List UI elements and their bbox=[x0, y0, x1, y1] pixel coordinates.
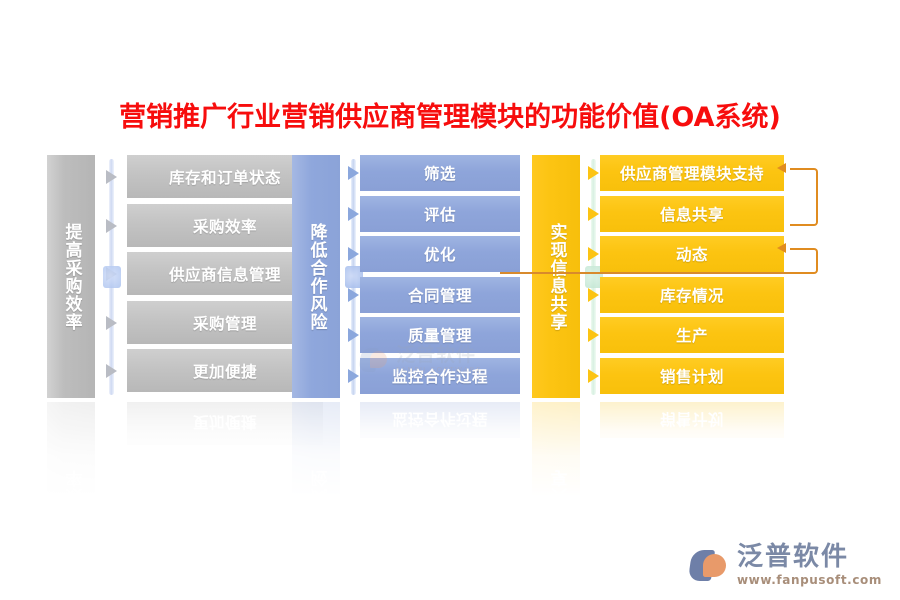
box-item-label: 销售计划 bbox=[660, 365, 724, 387]
box-item-label: 生产 bbox=[676, 324, 708, 346]
connector-arrow-icon bbox=[348, 288, 359, 302]
column-label-text: 提高采购效率 bbox=[61, 223, 80, 331]
box-stack-reflection: 销售计划 bbox=[600, 402, 784, 462]
box-item[interactable]: 生产 bbox=[600, 317, 784, 353]
fanpu-logo[interactable]: 泛普软件 www.fanpusoft.com bbox=[690, 544, 882, 586]
fanpu-logo-icon bbox=[690, 546, 730, 584]
box-item-label: 库存情况 bbox=[660, 284, 724, 306]
connector-arrow-icon bbox=[348, 166, 359, 180]
box-item-label: 采购效率 bbox=[193, 215, 257, 237]
column-label-bar-improve-procurement-efficiency[interactable]: 提高采购效率 bbox=[47, 155, 95, 398]
box-item[interactable]: 优化 bbox=[360, 236, 520, 272]
column-label-text: 降低合作风险 bbox=[306, 223, 325, 331]
feedback-arrow-upper bbox=[777, 163, 786, 173]
box-item[interactable]: 库存情况 bbox=[600, 277, 784, 313]
connector-knob bbox=[103, 266, 121, 288]
box-item-label: 优化 bbox=[424, 243, 456, 265]
logo-company-name: 泛普软件 bbox=[737, 544, 882, 570]
box-item-label: 库存和订单状态 bbox=[169, 166, 281, 188]
box-item-label: 评估 bbox=[424, 203, 456, 225]
feedback-elbow-lower bbox=[790, 248, 818, 274]
box-stack-reflection: 监控合作过程 bbox=[360, 402, 520, 462]
box-item[interactable]: 合同管理 bbox=[360, 277, 520, 313]
box-item-label: 信息共享 bbox=[660, 203, 724, 225]
slide-canvas: 营销推广行业营销供应商管理模块的功能价值(OA系统) 提高采购效率 提高采购效率… bbox=[0, 0, 900, 600]
box-item[interactable]: 供应商管理模块支持 bbox=[600, 155, 784, 191]
connector-arrow-icon bbox=[588, 328, 599, 342]
column-label-bar-achieve-information-sharing[interactable]: 实现信息共享 bbox=[532, 155, 580, 398]
box-item-label: 更加便捷 bbox=[193, 360, 257, 382]
column-label-reflection: 降低合作风险 bbox=[292, 402, 340, 522]
connector-arrow-icon bbox=[348, 328, 359, 342]
connector-arrow-icon bbox=[588, 207, 599, 221]
connector-arrow-icon bbox=[588, 247, 599, 261]
box-item[interactable]: 信息共享 bbox=[600, 196, 784, 232]
watermark-en: FANPU SOFTWARE bbox=[396, 367, 482, 374]
connector-arrow-icon bbox=[106, 316, 117, 330]
connector-arrow-icon bbox=[348, 369, 359, 383]
box-item[interactable]: 销售计划 bbox=[600, 358, 784, 394]
box-item-label: 采购管理 bbox=[193, 312, 257, 334]
connector-arrow-icon bbox=[106, 170, 117, 184]
box-item[interactable]: 动态 bbox=[600, 236, 784, 272]
column-label-text: 实现信息共享 bbox=[546, 223, 565, 331]
column-label-reflection: 提高采购效率 bbox=[47, 402, 95, 522]
connector-arrow-icon bbox=[588, 369, 599, 383]
fanpu-logo-icon bbox=[360, 345, 390, 375]
connector-arrow-icon bbox=[106, 219, 117, 233]
cross-link-horizontal-line bbox=[500, 272, 800, 274]
box-item[interactable]: 评估 bbox=[360, 196, 520, 232]
logo-url: www.fanpusoft.com bbox=[737, 574, 882, 586]
center-watermark: 泛普软件 FANPU SOFTWARE bbox=[360, 345, 482, 375]
box-item[interactable]: 筛选 bbox=[360, 155, 520, 191]
box-item-label: 筛选 bbox=[424, 162, 456, 184]
page-title: 营销推广行业营销供应商管理模块的功能价值(OA系统) bbox=[0, 95, 900, 134]
connector-arrow-icon bbox=[348, 207, 359, 221]
column-label-reflection: 实现信息共享 bbox=[532, 402, 580, 522]
feedback-arrow-lower bbox=[777, 243, 786, 253]
box-item-label: 供应商管理模块支持 bbox=[620, 162, 764, 184]
connector-arrow-icon bbox=[348, 247, 359, 261]
connector-arrow-icon bbox=[588, 288, 599, 302]
connector-arrows-improve-procurement-efficiency bbox=[100, 155, 128, 398]
connector-arrow-icon bbox=[588, 166, 599, 180]
box-item-label: 动态 bbox=[676, 243, 708, 265]
box-item-label: 质量管理 bbox=[408, 324, 472, 346]
watermark-cn: 泛普软件 bbox=[396, 346, 482, 365]
connector-arrow-icon bbox=[106, 364, 117, 378]
box-item-label: 合同管理 bbox=[408, 284, 472, 306]
box-item-label: 供应商信息管理 bbox=[169, 263, 281, 285]
column-label-bar-reduce-cooperation-risk[interactable]: 降低合作风险 bbox=[292, 155, 340, 398]
feedback-elbow-upper bbox=[790, 168, 818, 226]
